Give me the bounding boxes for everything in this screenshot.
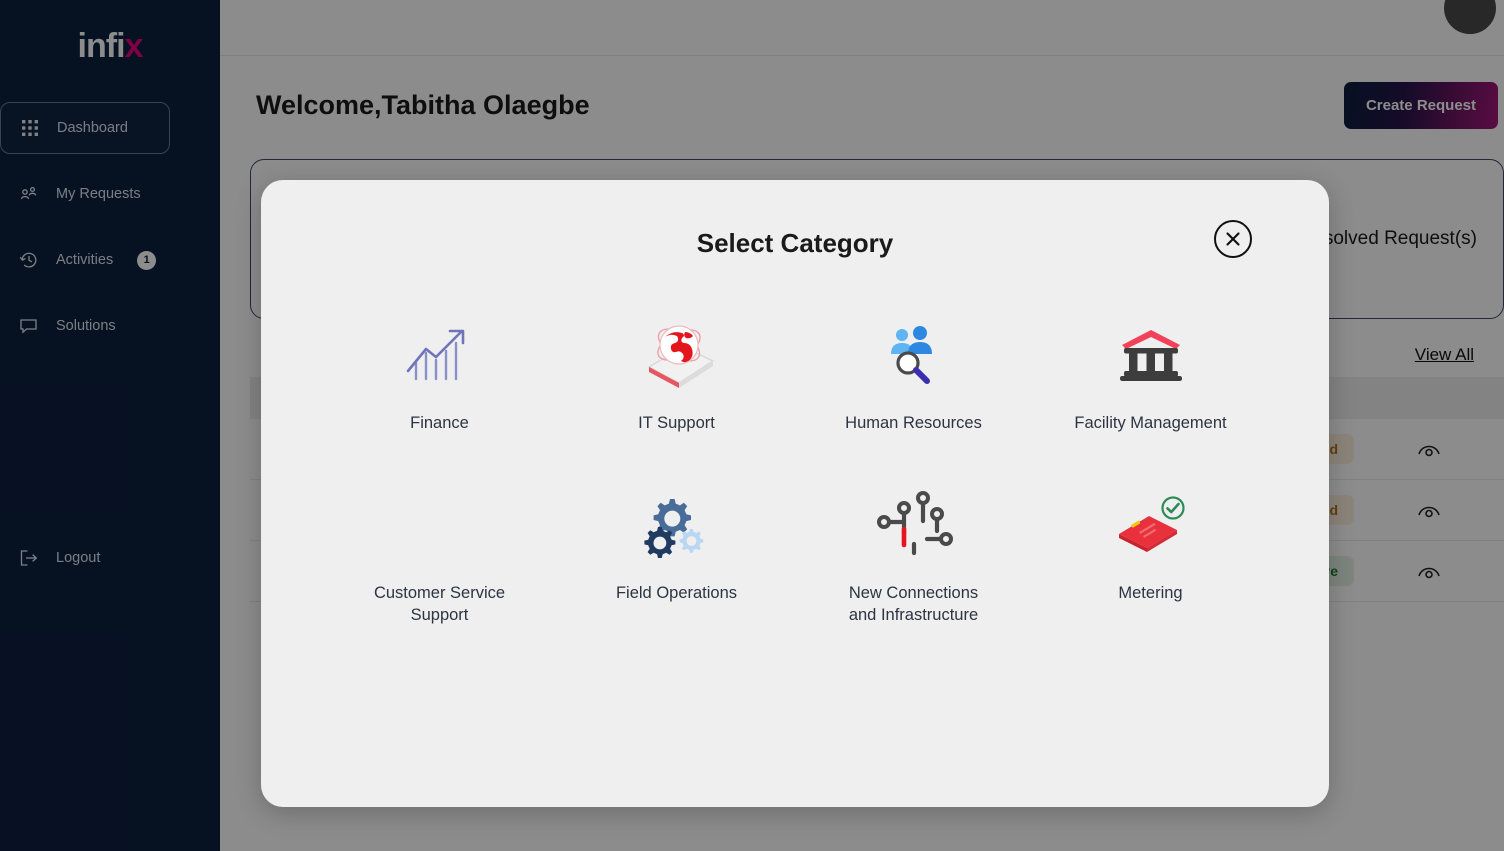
category-label: New Connections and Infrastructure bbox=[834, 583, 994, 627]
select-category-modal: Select Category bbox=[261, 180, 1329, 807]
meter-card-check-icon bbox=[1101, 487, 1201, 565]
bank-building-icon bbox=[1101, 317, 1201, 395]
globe-phone-icon bbox=[627, 317, 727, 395]
people-search-icon bbox=[864, 317, 964, 395]
category-facility-management[interactable]: Facility Management bbox=[1032, 317, 1269, 435]
category-label: Customer Service Support bbox=[360, 583, 520, 627]
network-nodes-icon bbox=[864, 487, 964, 565]
gears-icon bbox=[627, 487, 727, 565]
category-label: Field Operations bbox=[616, 583, 737, 605]
category-grid: Finance bbox=[261, 259, 1329, 627]
category-field-operations[interactable]: Field Operations bbox=[558, 487, 795, 627]
close-icon[interactable] bbox=[1214, 220, 1252, 258]
app-root: Welcome,Tabitha Olaegbe Create Request R… bbox=[0, 0, 1504, 851]
category-new-connections[interactable]: New Connections and Infrastructure bbox=[795, 487, 1032, 627]
category-metering[interactable]: Metering bbox=[1032, 487, 1269, 627]
category-label: IT Support bbox=[638, 413, 715, 435]
category-it-support[interactable]: IT Support bbox=[558, 317, 795, 435]
category-human-resources[interactable]: Human Resources bbox=[795, 317, 1032, 435]
missing-icon bbox=[390, 487, 490, 565]
category-label: Facility Management bbox=[1074, 413, 1226, 435]
category-label: Human Resources bbox=[845, 413, 982, 435]
growth-chart-icon bbox=[390, 317, 490, 395]
category-finance[interactable]: Finance bbox=[321, 317, 558, 435]
category-label: Finance bbox=[410, 413, 469, 435]
category-label: Metering bbox=[1118, 583, 1182, 605]
category-customer-service-support[interactable]: Customer Service Support bbox=[321, 487, 558, 627]
modal-title: Select Category bbox=[261, 180, 1329, 259]
